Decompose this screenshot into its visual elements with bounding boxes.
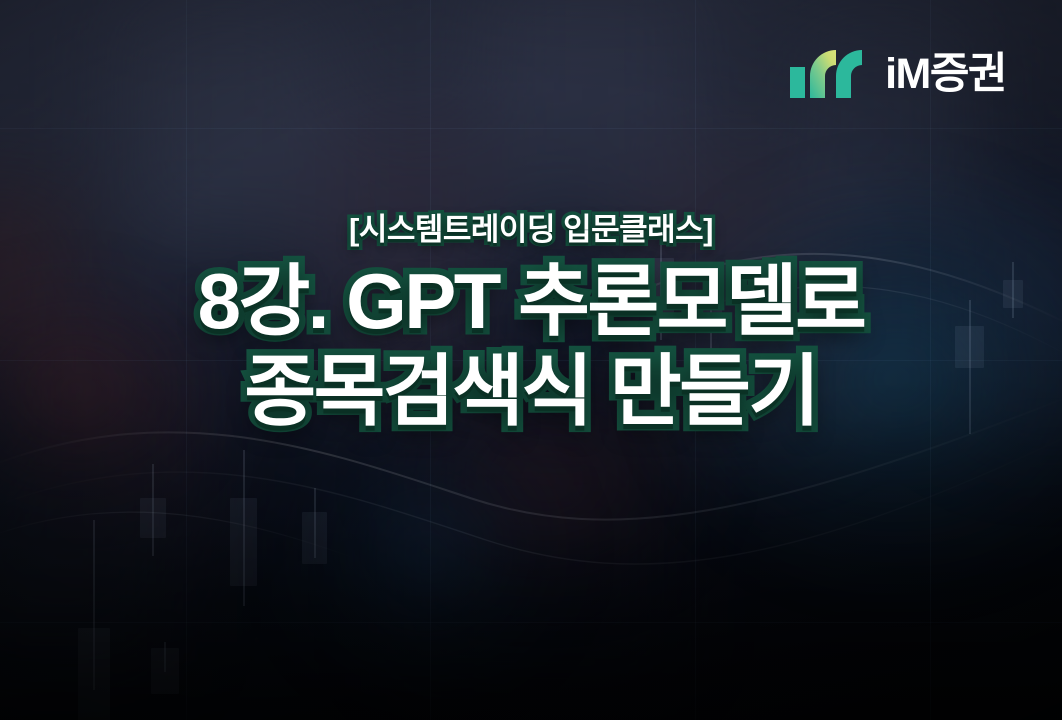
brand-wordmark: iM증권 <box>885 53 1006 96</box>
brand-logo: iM증권 <box>790 50 1006 98</box>
page-title: 8강. GPT 추론모델로 종목검색식 만들기 <box>0 256 1062 437</box>
thumbnail-canvas: iM증권 [시스템트레이딩 입문클래스] 8강. GPT 추론모델로 종목검색식… <box>0 0 1062 720</box>
page-title-line-2: 종목검색식 만들기 <box>0 346 1062 436</box>
page-title-line-1: 8강. GPT 추론모델로 <box>0 256 1062 346</box>
title-block: [시스템트레이딩 입문클래스] 8강. GPT 추론모델로 종목검색식 만들기 <box>0 212 1062 437</box>
course-series-eyebrow: [시스템트레이딩 입문클래스] <box>0 212 1062 248</box>
im-securities-logo-mark-icon <box>790 50 870 98</box>
